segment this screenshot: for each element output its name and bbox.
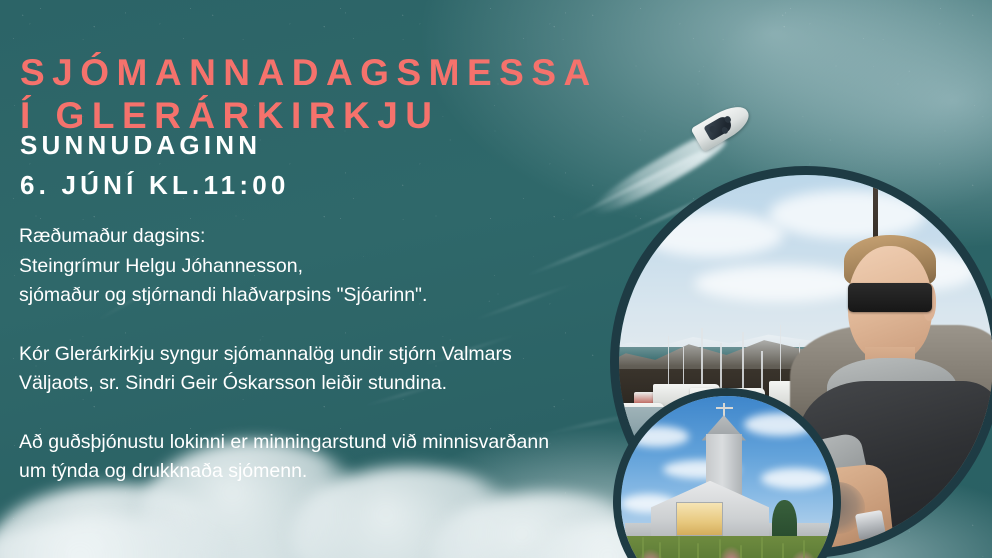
memorial-line-1: Að guðsþjónustu lokinni er minningarstun… [19, 428, 659, 458]
man-wristwatch [855, 509, 886, 540]
sunglasses-icon [848, 283, 932, 311]
speaker-label: Ræðumaður dagsins: [19, 222, 659, 252]
church-cloud [761, 468, 829, 489]
event-day-and-time: 6. JÚNÍ KL.11:00 [20, 165, 290, 205]
paragraph-spacer [19, 311, 659, 340]
event-date-block: SUNNUDAGINN 6. JÚNÍ KL.11:00 [20, 125, 290, 205]
harbour-cloud [641, 212, 783, 257]
church-cross [716, 407, 733, 409]
paragraph-spacer [19, 399, 659, 428]
event-description: Ræðumaður dagsins: Steingrímur Helgu Jóh… [19, 222, 659, 487]
choir-line-1: Kór Glerárkirkju syngur sjómannalög undi… [19, 340, 659, 370]
page-title: SJÓMANNADAGSMESSA Í GLERÁRKIRKJU [20, 51, 598, 137]
choir-line-2: Väljaots, sr. Sindri Geir Óskarsson leið… [19, 369, 659, 399]
title-line-1: SJÓMANNADAGSMESSA [20, 52, 598, 93]
poster-canvas: SJÓMANNADAGSMESSA Í GLERÁRKIRKJU SUNNUDA… [0, 0, 992, 558]
event-weekday: SUNNUDAGINN [20, 130, 261, 160]
speaker-name: Steingrímur Helgu Jóhannesson, [19, 252, 659, 282]
foreground-flower-bed [621, 536, 833, 558]
memorial-line-2: um týnda og drukknaða sjómenn. [19, 457, 659, 487]
church-window [676, 502, 723, 536]
speaker-role: sjómaður og stjórnandi hlaðvarpsins "Sjó… [19, 281, 659, 311]
